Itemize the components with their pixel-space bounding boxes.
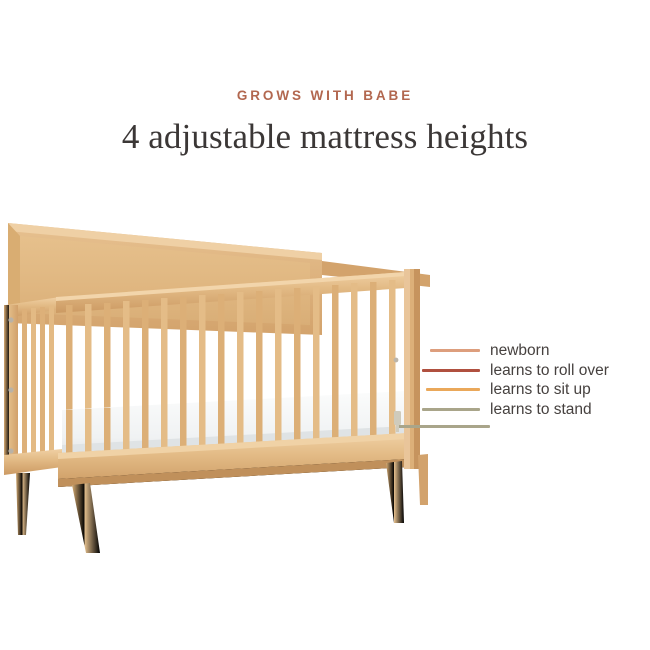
legend-swatch-roll-over (422, 369, 480, 372)
legend-item-sit-up: learns to sit up (430, 380, 650, 400)
page-title: 4 adjustable mattress heights (0, 117, 650, 157)
legend-label-roll-over: learns to roll over (490, 363, 609, 379)
legend-label-newborn: newborn (490, 343, 549, 359)
legend-label-sit-up: learns to sit up (490, 382, 591, 398)
legend-leader-line-stand (398, 425, 490, 428)
legend-item-stand: learns to stand (430, 400, 650, 420)
legend-swatch-newborn (430, 349, 480, 352)
crib-end-slats (22, 306, 54, 467)
legend-leader-cap (396, 421, 399, 432)
legend-item-roll-over: learns to roll over (430, 361, 650, 381)
eyebrow-text: GROWS WITH BABE (0, 88, 650, 103)
legend-item-newborn: newborn (430, 341, 650, 361)
crib-left-end (4, 297, 62, 475)
header: GROWS WITH BABE 4 adjustable mattress he… (0, 0, 650, 157)
legend-swatch-sit-up (426, 388, 480, 391)
crib-right-post (404, 269, 420, 469)
crib-illustration (0, 205, 450, 565)
legend: newborn learns to roll over learns to si… (430, 341, 650, 419)
legend-label-stand: learns to stand (490, 402, 592, 418)
legend-swatch-stand (422, 408, 480, 411)
crib-front-side (56, 271, 420, 487)
